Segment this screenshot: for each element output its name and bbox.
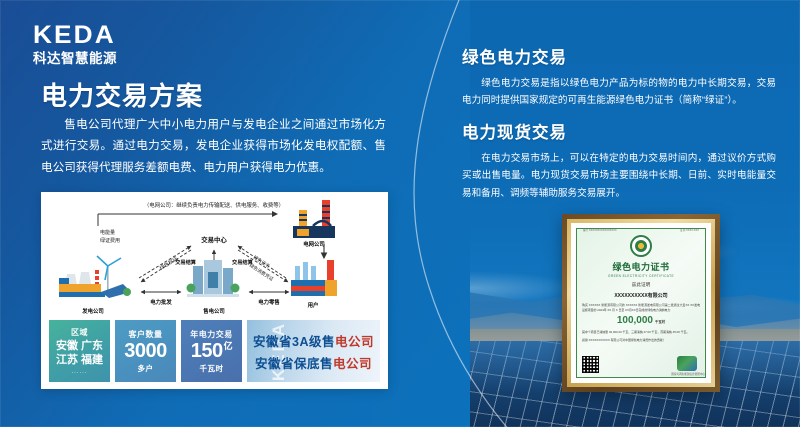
certificate-frame: 编号 XXXXXXXXXXXXXXXX 证书 XXXX-XXX 绿色电力证书 G… (562, 214, 720, 392)
svg-text:电力批发: 电力批发 (150, 298, 172, 306)
certificate-amount-unit: 千瓦时 (655, 320, 665, 324)
qualification-line-2-b: 电公司 (333, 357, 372, 371)
certificate-amount-value: 100,000 (617, 315, 653, 326)
stat-value-customers: 3000 (124, 341, 167, 362)
stat-region-line-1: 安徽 广东 (56, 340, 103, 354)
stat-card-customers: 客户数量 3000 多户 (115, 320, 176, 382)
section-body-green: 绿色电力交易是指以绿色电力产品为标的物的电力中长期交易，交易电力同时提供国家规定… (462, 75, 776, 110)
stat-label-region: 区域 (71, 327, 88, 338)
svg-text:交易结算: 交易结算 (175, 258, 197, 266)
svg-text:交易中心: 交易中心 (201, 235, 227, 244)
section-body-spot: 在电力交易市场上，可以在特定的电力交易时间内，通过议价方式购买或出售电量。电力现… (462, 150, 776, 202)
stat-card-region: 区域 安徽 广东 江苏 福建 ...... (49, 320, 110, 382)
section-spot-power-trading: 电力现货交易 在电力交易市场上，可以在特定的电力交易时间内，通过议价方式购买或出… (462, 119, 776, 202)
page-lead-paragraph: 售电公司代理广大中小电力用户与发电企业之间通过市场化方式进行交易。通过电力交易，… (41, 114, 386, 178)
svg-text:发电公司: 发电公司 (81, 307, 104, 315)
section-title-spot: 电力现货交易 (462, 119, 776, 143)
certificate-paragraph-3: 感谢 XXXXXXXXXXX 有限公司对中国绿色电力消费作出的贡献！ (579, 338, 703, 343)
qualification-line-2: 安徽省保底售电公司 (255, 353, 372, 372)
stat-value-annual-trading: 150亿 (191, 341, 232, 362)
certificate-qr-code-icon (582, 356, 599, 373)
grid-company-icon (293, 200, 335, 238)
qualification-line-1-b: 电公司 (335, 335, 374, 349)
user-factory-icon (291, 260, 337, 296)
certificate-stamp-icon (677, 356, 697, 371)
stats-strip: 区域 安徽 广东 江苏 福建 ...... 客户数量 3000 多户 年电力交易… (49, 320, 380, 382)
certificate-company: XXXXXXXXXX有限公司 (614, 292, 667, 299)
stat-card-annual-trading: 年电力交易 150亿 千瓦时 (181, 320, 242, 382)
certificate-frame-mat: 编号 XXXXXXXXXXXXXXXX 证书 XXXX-XXX 绿色电力证书 G… (567, 219, 715, 387)
stat-value-unit-yi: 亿 (224, 341, 233, 351)
page-title: 电力交易方案 (41, 76, 203, 113)
stat-label-customers: 客户数量 (129, 329, 163, 340)
certificate-header-row: 编号 XXXXXXXXXXXXXXXX 证书 XXXX-XXX (579, 228, 703, 232)
certificate-paragraph-2: 其中个项目已消纳量 49,000.00 千瓦，三期消纳 47.00 千瓦，首期消… (579, 330, 703, 335)
content-card: （电网公司：继续负责电力传输配送、供电服务、收费等） 电能量 绿证费用 交易中心… (41, 192, 388, 389)
certificate-paragraph: 购买 XXXXXX 新能源有限公司的 XXXXXX 新能源发电有限公司第二批通过… (579, 303, 703, 313)
brand-logo-mark: KEDA (33, 23, 191, 48)
qualification-line-2-a: 安徽省保底售 (255, 357, 333, 371)
svg-text:电能量: 电能量 (100, 229, 115, 236)
stat-region-line-2: 江苏 福建 (56, 354, 103, 368)
qualification-line-1-a: 安徽省3A级售 (253, 335, 335, 349)
svg-text:（电网公司：继续负责电力传输配送、供电服务、收费等）: （电网公司：继续负责电力传输配送、供电服务、收费等） (144, 201, 284, 209)
certificate-title: 绿色电力证书 (612, 260, 669, 273)
certificate-serial-left: 编号 XXXXXXXXXXXXXXXX (583, 228, 617, 232)
certificate-serial-right: 证书 XXXX-XXX (680, 228, 699, 232)
certificate-amount: 100,000千瓦时 (617, 315, 665, 326)
qualification-line-1: 安徽省3A级售电公司 (253, 331, 374, 350)
svg-text:售电公司: 售电公司 (203, 307, 225, 315)
certificate-seal-icon (630, 235, 652, 257)
generation-company-icon (59, 256, 131, 298)
certificate-title-en: GREEN ELECTRICITY CERTIFICATE (608, 274, 674, 278)
qualification-banner: KEDA 安徽省3A级售电公司 安徽省保底售电公司 (247, 320, 380, 382)
svg-text:用户: 用户 (308, 301, 319, 309)
poster-root: KEDA 科达智慧能源 电力交易方案 售电公司代理广大中小电力用户与发电企业之间… (0, 0, 800, 427)
brand-logo-name: 科达智慧能源 (33, 52, 183, 66)
stat-region-list: 安徽 广东 江苏 福建 (56, 340, 103, 368)
svg-text:电网公司: 电网公司 (303, 240, 325, 248)
stat-label-annual-trading: 年电力交易 (190, 329, 233, 340)
stat-region-ellipsis: ...... (71, 369, 87, 375)
power-trading-flow-diagram: （电网公司：继续负责电力传输配送、供电服务、收费等） 电能量 绿证费用 交易中心… (41, 192, 388, 322)
green-electricity-certificate: 编号 XXXXXXXXXXXXXXXX 证书 XXXX-XXX 绿色电力证书 G… (571, 223, 711, 383)
brand-logo: KEDA 科达智慧能源 (33, 23, 183, 66)
svg-text:绿证费用: 绿证费用 (100, 237, 120, 244)
certificate-subtitle: 兹此证明 (632, 282, 650, 288)
section-title-green: 绿色电力交易 (462, 44, 776, 68)
stat-value-number: 150 (191, 340, 223, 362)
section-green-power-trading: 绿色电力交易 绿色电力交易是指以绿色电力产品为标的物的电力中长期交易，交易电力同… (462, 44, 776, 110)
certificate-issuer-label: 国家可再生能源信息管理中心 (671, 372, 705, 376)
svg-text:电力零售: 电力零售 (258, 298, 280, 306)
stat-unit-customers: 多户 (138, 363, 154, 374)
certificate-seal-inner-icon (635, 240, 647, 252)
svg-text:交易结算: 交易结算 (232, 258, 254, 266)
stat-unit-annual-trading: 千瓦时 (200, 363, 224, 374)
